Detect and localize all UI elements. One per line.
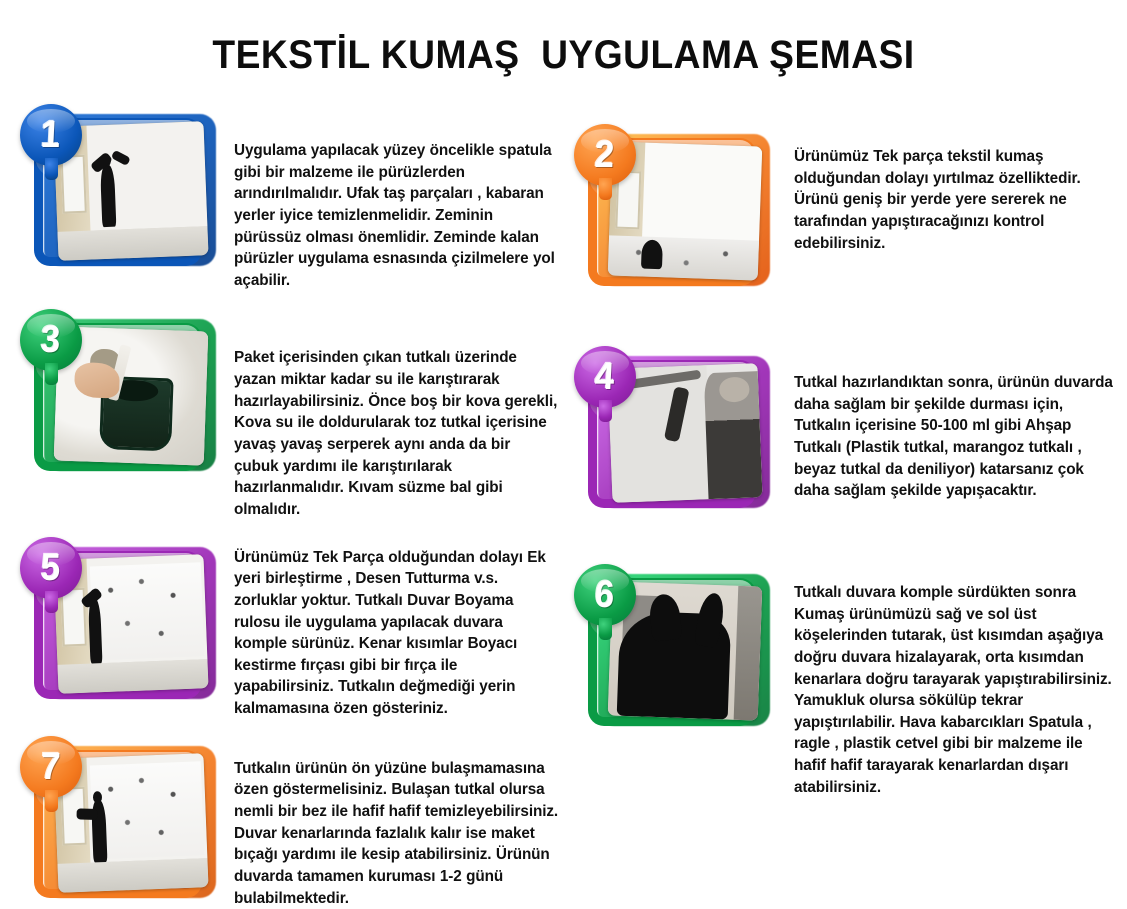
step-3: 3 Paket içerisinden çıkan tutkalı üzerin… [18,313,563,520]
step-4-card: 4 [572,350,772,510]
step-6-number: 6 [594,576,615,614]
step-2-card: 2 [572,128,772,288]
steps-column-left: 1 Uygulama yapılacak yüzey öncelikle spa… [18,108,563,909]
step-5-badge: 5 [20,537,82,599]
step-1-number: 1 [40,116,61,154]
steps-column-right: 2 Ürünümüz Tek parça tekstil kumaş olduğ… [572,128,1117,798]
step-6-text: Tutkalı duvara komple sürdükten sonra Ku… [772,568,1117,798]
step-6: 6 Tutkalı duvara komple sürdükten sonra … [572,568,1117,798]
step-7-number: 7 [40,748,61,786]
step-4-number: 4 [594,358,615,396]
step-3-number: 3 [40,321,61,359]
step-2-badge: 2 [574,124,636,186]
step-1-card: 1 [18,108,218,268]
page-title: TEKSTİL KUMAŞ UYGULAMA ŞEMASI [39,33,1087,78]
step-4-text: Tutkal hazırlandıktan sonra, ürünün duva… [772,350,1117,502]
step-7: 7 Tutkalın ürünün ön yüzüne bulaşmamasın… [18,740,563,909]
step-6-badge: 6 [574,564,636,626]
step-1-badge: 1 [20,104,82,166]
step-4: 4 Tutkal hazırlandıktan sonra, ürünün du… [572,350,1117,510]
step-1: 1 Uygulama yapılacak yüzey öncelikle spa… [18,108,563,291]
infographic-page: TEKSTİL KUMAŞ UYGULAMA ŞEMASI [0,0,1127,888]
step-2-text: Ürünümüz Tek parça tekstil kumaş olduğun… [772,128,1117,254]
step-3-card: 3 [18,313,218,473]
step-7-card: 7 [18,740,218,900]
step-6-card: 6 [572,568,772,728]
step-7-text: Tutkalın ürünün ön yüzüne bulaşmamasına … [218,740,563,909]
step-7-badge: 7 [20,736,82,798]
step-2-number: 2 [594,136,615,174]
step-3-text: Paket içerisinden çıkan tutkalı üzerinde… [218,313,563,520]
step-5-number: 5 [40,549,61,587]
step-2: 2 Ürünümüz Tek parça tekstil kumaş olduğ… [572,128,1117,288]
step-1-text: Uygulama yapılacak yüzey öncelikle spatu… [218,108,563,291]
step-5: 5 Ürünümüz Tek Parça olduğundan dolayı E… [18,541,563,720]
step-5-text: Ürünümüz Tek Parça olduğundan dolayı Ek … [218,541,563,720]
step-5-card: 5 [18,541,218,701]
step-4-badge: 4 [574,346,636,408]
